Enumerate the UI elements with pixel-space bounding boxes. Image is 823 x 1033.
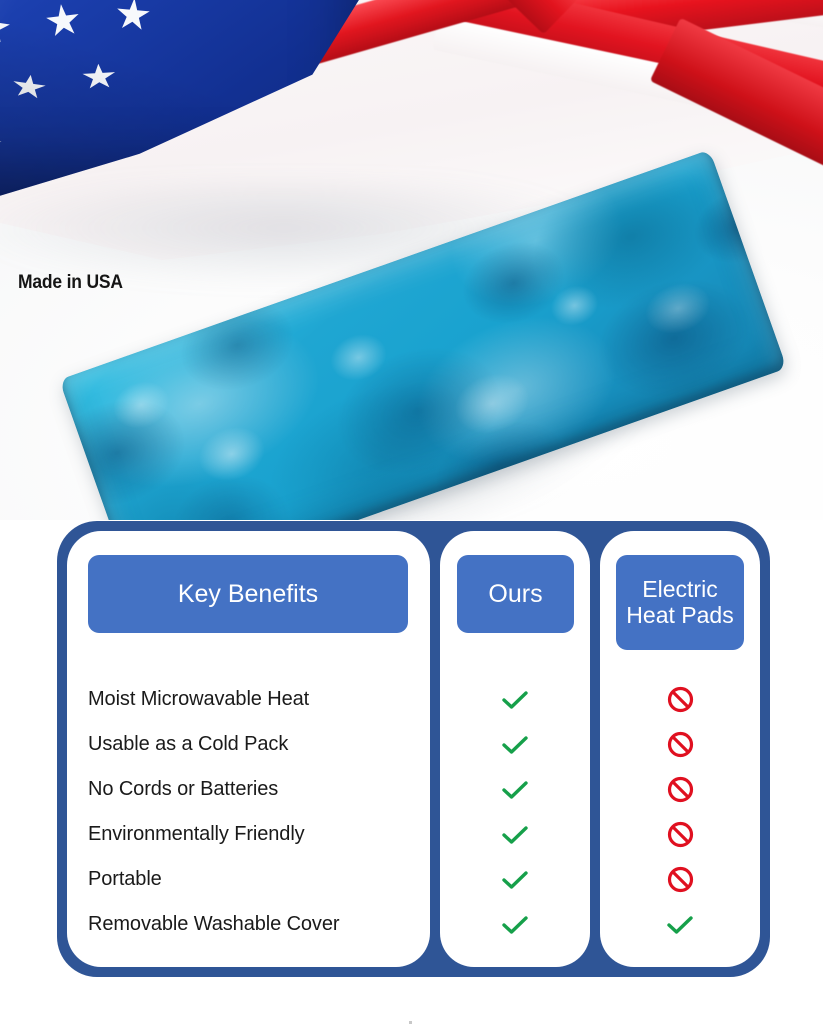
image-artifact [409,1021,412,1024]
feature-label: Removable Washable Cover [88,913,339,936]
table-row [600,812,760,857]
column-electric-heat-pads: Electric Heat Pads [600,531,760,967]
table-row [600,902,760,947]
table-row: Portable [67,857,430,902]
prohibited-icon [667,731,694,758]
prohibited-icon [667,776,694,803]
column-header-ours: Ours [457,555,574,633]
column-ours: Ours [440,531,590,967]
table-row [600,722,760,767]
table-row [440,767,590,812]
column-header-key-benefits: Key Benefits [88,555,408,633]
table-row [440,812,590,857]
product-photo: Made in USA [0,0,823,520]
electric-value-list [600,677,760,947]
check-icon [500,733,530,757]
table-row: No Cords or Batteries [67,767,430,812]
header-line-1: Electric [642,576,717,602]
table-row [440,857,590,902]
table-row [600,677,760,722]
made-in-usa-label: Made in USA [18,272,123,294]
table-row [440,722,590,767]
table-row: Moist Microwavable Heat [67,677,430,722]
comparison-table: Key Benefits Moist Microwavable Heat Usa… [57,521,770,977]
table-row [440,677,590,722]
table-row [600,857,760,902]
check-icon [665,913,695,937]
feature-label: No Cords or Batteries [88,778,278,801]
feature-label: Moist Microwavable Heat [88,688,309,711]
check-icon [500,868,530,892]
feature-label: Environmentally Friendly [88,823,305,846]
prohibited-icon [667,866,694,893]
table-row [600,767,760,812]
feature-label: Usable as a Cold Pack [88,733,288,756]
check-icon [500,913,530,937]
column-key-benefits: Key Benefits Moist Microwavable Heat Usa… [67,531,430,967]
check-icon [500,688,530,712]
header-line-2: Heat Pads [626,602,733,628]
table-row [440,902,590,947]
check-icon [500,778,530,802]
table-row: Removable Washable Cover [67,902,430,947]
feature-list: Moist Microwavable Heat Usable as a Cold… [67,677,430,947]
feature-label: Portable [88,868,162,891]
column-header-electric-heat-pads: Electric Heat Pads [616,555,744,650]
product-infographic: Made in USA Key Benefits Moist Microwava… [0,0,823,1033]
prohibited-icon [667,821,694,848]
table-row: Environmentally Friendly [67,812,430,857]
prohibited-icon [667,686,694,713]
ours-value-list [440,677,590,947]
table-row: Usable as a Cold Pack [67,722,430,767]
check-icon [500,823,530,847]
